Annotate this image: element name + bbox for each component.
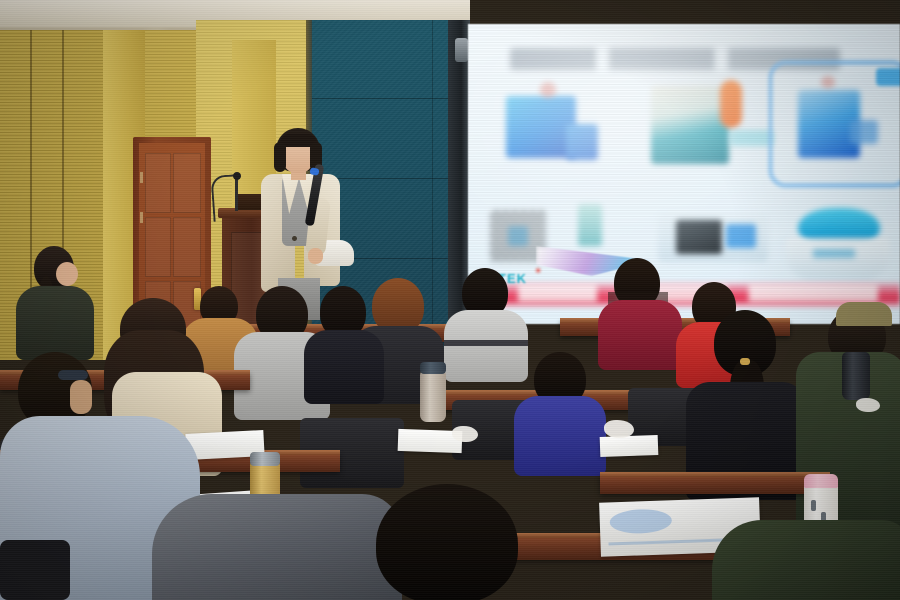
slide-qr-inner xyxy=(508,226,528,246)
audience-face-profile xyxy=(56,262,78,286)
audience-body xyxy=(16,286,94,360)
slide-device-blue-panel xyxy=(726,224,756,248)
audience-body-crimson xyxy=(598,300,682,370)
audience-hat xyxy=(836,302,892,326)
slide-product-accent-dot xyxy=(821,76,835,88)
thermos-lid xyxy=(250,452,280,466)
presenter xyxy=(252,128,344,308)
slide-product-highlighted-part xyxy=(850,120,878,144)
screen-mount-clip xyxy=(455,38,468,62)
brochure-graphic xyxy=(609,508,672,534)
eyeglasses-icon xyxy=(58,370,88,380)
panel-seam xyxy=(312,98,464,99)
desk-edge xyxy=(600,472,830,477)
desk-row-front-right xyxy=(600,474,830,494)
audience-head-foreground xyxy=(376,484,518,600)
paper-handout xyxy=(600,435,659,457)
slide-cyan-device-base xyxy=(786,238,890,280)
draped-coat xyxy=(152,494,402,600)
microphone-band xyxy=(309,167,319,175)
presenter-hair-side-left xyxy=(274,142,286,172)
presenter-hand xyxy=(308,248,323,264)
slide-product-teal-instrument xyxy=(651,86,729,164)
dark-thermos xyxy=(842,352,870,400)
microphone-stem xyxy=(235,175,238,211)
door-hinge xyxy=(140,172,143,183)
audience-body xyxy=(304,330,384,404)
door-hinge xyxy=(140,212,143,223)
slide-cyan-device-label xyxy=(813,249,855,258)
slide-highlight-tab xyxy=(876,68,900,86)
chair-front-left[interactable] xyxy=(0,540,70,600)
microphone-head-icon xyxy=(233,172,241,180)
slide-device-display xyxy=(676,220,722,254)
panel-seam-vertical xyxy=(432,20,433,370)
presenter-jacket-button xyxy=(292,236,297,241)
tissue xyxy=(604,420,634,438)
conference-hall-photo: TEK ✳ 科技 xyxy=(0,0,900,600)
thermos-pink-lid xyxy=(804,474,838,488)
slide-product-accent-dot xyxy=(540,82,556,98)
tissue xyxy=(856,398,880,412)
tissue xyxy=(452,426,478,442)
blazer-stripe xyxy=(444,340,528,346)
hair-tie xyxy=(740,358,750,365)
steel-thermos xyxy=(420,370,446,422)
slide-product-orange-accent xyxy=(720,80,742,128)
slide-product-blue-analyzer-part xyxy=(566,124,598,160)
thermos-lid xyxy=(420,362,446,374)
audience-ear-profile xyxy=(70,380,92,414)
audience-body-light-blazer xyxy=(444,310,528,382)
audience-body-foreground-olive xyxy=(712,520,900,600)
slide-small-probe xyxy=(578,204,602,246)
logo-star-icon: ✳ xyxy=(534,266,542,277)
projection-screen: TEK ✳ 科技 xyxy=(468,24,900,324)
audience-body-navy xyxy=(514,396,606,476)
